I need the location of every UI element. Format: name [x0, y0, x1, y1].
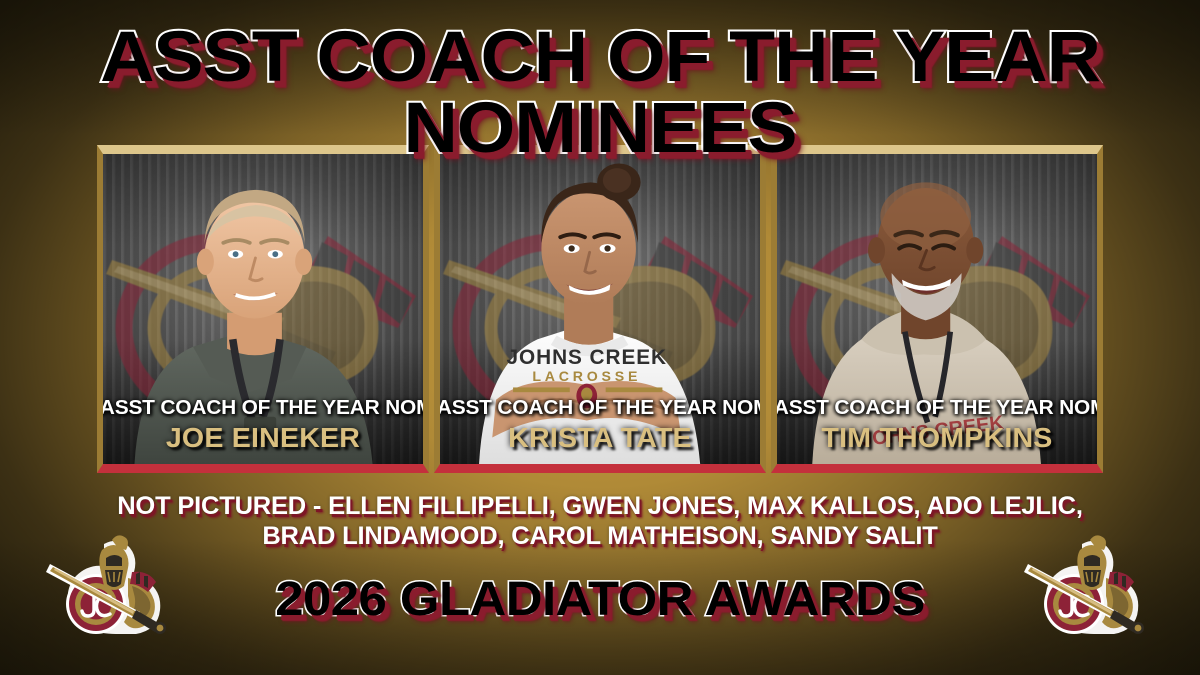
nominee-name: TIM THOMPKINS — [774, 422, 1100, 454]
nominee-card[interactable]: ASST COACH OF THE YEAR NOMINEE JOE EINEK… — [97, 145, 429, 473]
svg-text:JOHNS CREEK: JOHNS CREEK — [507, 346, 668, 369]
nominee-card-row: ASST COACH OF THE YEAR NOMINEE JOE EINEK… — [97, 145, 1103, 473]
awards-graphic: ASST COACH OF THE YEAR NOMINEES — [0, 0, 1200, 675]
nominee-card[interactable]: JOHNS CREEK LACROSSE ASST COACH OF THE Y… — [434, 145, 766, 473]
gladiator-logo-icon — [1022, 530, 1156, 648]
card-caption: ASST COACH OF THE YEAR NOMINEE TIM THOMP… — [777, 396, 1097, 454]
event-title: 2026 GLADIATOR AWARDS — [0, 576, 1200, 624]
nominee-card[interactable]: JOHNS CREEK ASST COACH OF THE YEAR NOMIN… — [771, 145, 1103, 473]
not-pictured-text: NOT PICTURED - ELLEN FILLIPELLI, GWEN JO… — [0, 492, 1200, 551]
page-title: ASST COACH OF THE YEAR NOMINEES — [0, 22, 1200, 164]
not-pictured-line-1: NOT PICTURED - ELLEN FILLIPELLI, GWEN JO… — [0, 492, 1200, 522]
nominee-role: ASST COACH OF THE YEAR NOMINEE — [437, 396, 763, 420]
not-pictured-line-2: BRAD LINDAMOOD, CAROL MATHEISON, SANDY S… — [0, 522, 1200, 552]
nominee-role: ASST COACH OF THE YEAR NOMINEE — [100, 396, 426, 420]
card-caption: ASST COACH OF THE YEAR NOMINEE KRISTA TA… — [440, 396, 760, 454]
nominee-name: JOE EINEKER — [100, 422, 426, 454]
nominee-role: ASST COACH OF THE YEAR NOMINEE — [774, 396, 1100, 420]
nominee-name: KRISTA TATE — [437, 422, 763, 454]
svg-text:LACROSSE: LACROSSE — [532, 369, 641, 385]
gladiator-logo-icon — [44, 530, 178, 648]
card-caption: ASST COACH OF THE YEAR NOMINEE JOE EINEK… — [103, 396, 423, 454]
